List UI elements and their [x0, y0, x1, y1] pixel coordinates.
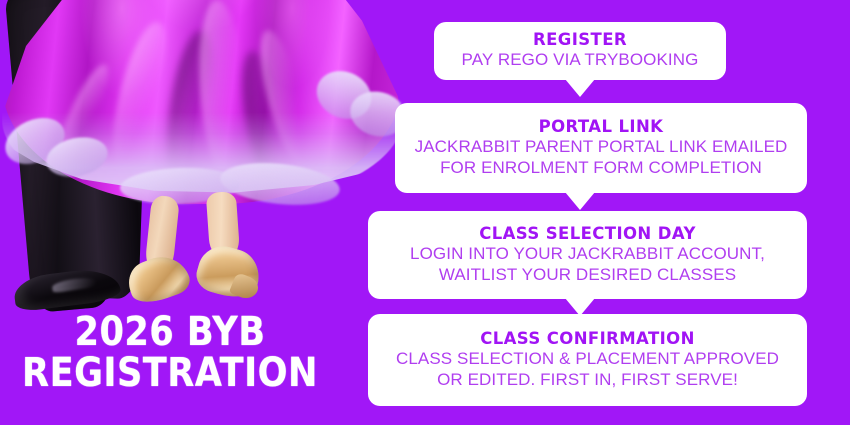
step-title-class-confirmation: CLASS CONFIRMATION [382, 329, 793, 349]
poster-title-line-1: 2026 BYB [20, 312, 319, 353]
step-body-class-confirmation-line-1: CLASS SELECTION & PLACEMENT APPROVED [382, 349, 793, 370]
step-card-portal-link[interactable]: PORTAL LINK JACKRABBIT PARENT PORTAL LIN… [395, 103, 807, 193]
step-body-register-line-1: PAY REGO VIA TRYBOOKING [448, 50, 712, 71]
flow-arrow-2-icon [565, 192, 595, 210]
step-body-class-selection-day-line-1: LOGIN INTO YOUR JACKRABBIT ACCOUNT, [382, 244, 793, 265]
step-title-register: REGISTER [448, 30, 712, 50]
flow-arrow-1-icon [565, 79, 595, 97]
step-title-portal-link: PORTAL LINK [409, 117, 793, 137]
poster-title-line-2: REGISTRATION [20, 353, 319, 394]
poster-title: 2026 BYB REGISTRATION [20, 312, 319, 394]
step-title-class-selection-day: CLASS SELECTION DAY [382, 224, 793, 244]
step-card-class-confirmation[interactable]: CLASS CONFIRMATION CLASS SELECTION & PLA… [368, 314, 807, 406]
step-body-class-confirmation-line-2: OR EDITED. FIRST IN, FIRST SERVE! [382, 370, 793, 391]
step-card-register[interactable]: REGISTER PAY REGO VIA TRYBOOKING [434, 22, 726, 80]
ballroom-dancers-photo [0, 0, 430, 320]
step-body-portal-link-line-1: JACKRABBIT PARENT PORTAL LINK EMAILED [409, 137, 793, 158]
step-body-portal-link-line-2: FOR ENROLMENT FORM COMPLETION [409, 158, 793, 179]
step-body-class-selection-day-line-2: WAITLIST YOUR DESIRED CLASSES [382, 265, 793, 286]
registration-poster: 2026 BYB REGISTRATION REGISTER PAY REGO … [0, 0, 850, 425]
step-card-class-selection-day[interactable]: CLASS SELECTION DAY LOGIN INTO YOUR JACK… [368, 211, 807, 299]
